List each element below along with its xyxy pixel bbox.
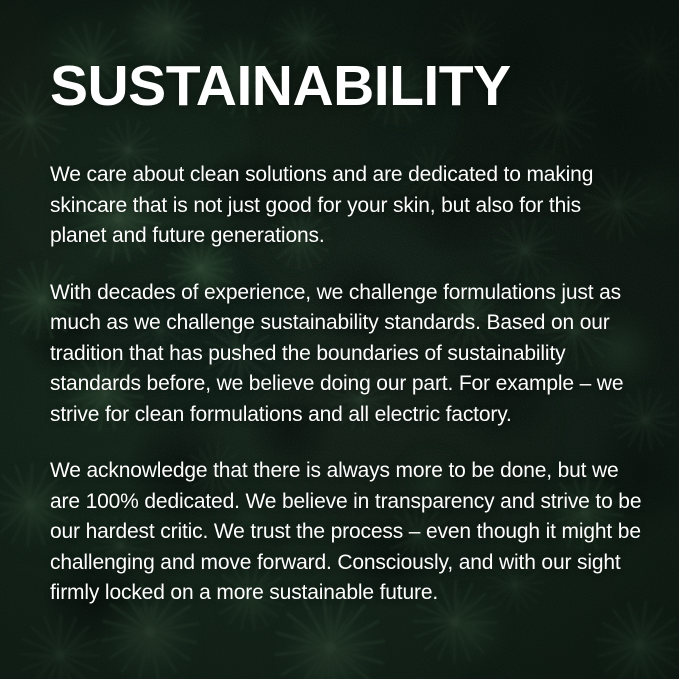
paragraph-3: We acknowledge that there is always more…	[50, 456, 642, 609]
sustainability-page: SUSTAINABILITY We care about clean solut…	[0, 0, 679, 679]
body-copy: We care about clean solutions and are de…	[50, 160, 642, 609]
content-container: SUSTAINABILITY We care about clean solut…	[50, 0, 642, 679]
page-title: SUSTAINABILITY	[50, 56, 511, 116]
paragraph-2: With decades of experience, we challenge…	[50, 278, 642, 431]
paragraph-1: We care about clean solutions and are de…	[50, 160, 642, 252]
